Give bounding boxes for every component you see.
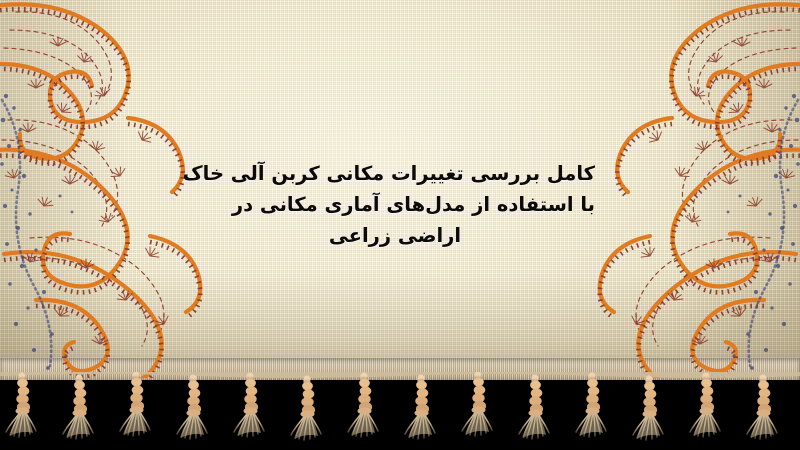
- title-line-3: اراضی زراعی: [195, 220, 595, 251]
- title-line-1: کامل بررسی تغییرات مکانی کربن آلی خاک: [195, 158, 595, 189]
- title-line-2: با استفاده از مدل‌های آماری مکانی در: [195, 189, 595, 220]
- cloth-hem-band: [0, 358, 800, 380]
- title-text-block: کامل بررسی تغییرات مکانی کربن آلی خاک با…: [195, 158, 595, 251]
- title-card-image: کامل بررسی تغییرات مکانی کربن آلی خاک با…: [0, 0, 800, 450]
